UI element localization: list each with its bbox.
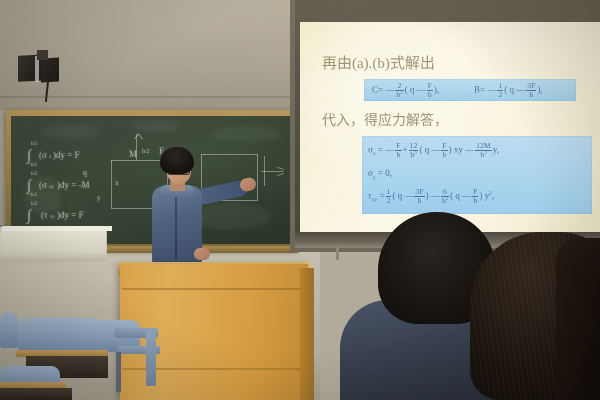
chalk-text: h/2	[31, 202, 37, 207]
chalk-text: -h/2	[29, 193, 37, 198]
wall-cabinet	[0, 227, 107, 263]
speaker-mount-bracket	[37, 50, 48, 60]
slide-formula-block-1: C= —2b2( q —Fb), B= —12( q —3Fb),	[364, 79, 576, 101]
chalk-text: y	[97, 194, 101, 202]
lectern-right-side	[300, 268, 314, 400]
chalk-arrow-shaft	[261, 171, 283, 172]
formula-sigma-x: σx = —Fb+12b3( q —Fb) xy —12Mb3y,	[368, 142, 499, 158]
chalk-text: )dy = -M	[57, 180, 90, 190]
formula-sigma-y: σy = 0,	[368, 168, 392, 181]
chalk-text: )dy = F	[53, 150, 80, 160]
lectern-groove-upper	[122, 288, 306, 290]
slide-formula-block-2: σx = —Fb+12b3( q —Fb) xy —12Mb3y, σy = 0…	[362, 136, 592, 214]
presenter-hair	[160, 147, 194, 174]
presenter-jacket-seam	[175, 190, 177, 260]
seat-shadow-bottom	[0, 388, 72, 400]
chalk-beam-left	[111, 160, 112, 208]
chalk-text: (σ	[39, 150, 47, 160]
formula-1-right: B= —12( q —3Fb),	[474, 82, 543, 98]
presenter-resting-hand	[194, 248, 210, 260]
chalk-arrow-head-a	[277, 167, 284, 171]
formula-1-left: C= —2b2( q —Fb),	[372, 82, 439, 98]
chalk-rect-right	[257, 154, 258, 201]
chalk-text: xy	[49, 185, 54, 190]
classroom-photo: ∫h/2-h/2(σx)dy = F∫h/2-h/2(σxy)dy = -M∫h…	[0, 0, 600, 400]
chalk-arrow-head-b	[277, 173, 284, 177]
chalk-text: -h/2	[29, 163, 37, 168]
student-far-right-head	[556, 238, 600, 400]
wall-cabinet-top-edge	[2, 226, 112, 231]
chalk-text: x	[115, 179, 119, 187]
chalk-text: ∫	[27, 208, 31, 225]
chalk-arrow-up2	[138, 133, 143, 139]
wall-speaker-secondary	[41, 57, 59, 82]
chalk-text: x	[49, 155, 52, 160]
formula-tau-xy: τxy =12( q —3Fb) —6b2( q —Fb) y2,	[368, 188, 494, 204]
chalk-text: )dy = F	[57, 210, 84, 220]
seat-leg-left	[116, 352, 121, 392]
chalk-text: (σ	[39, 180, 47, 190]
chalk-beam-top	[111, 160, 167, 161]
chalk-text: xy	[50, 215, 55, 220]
chalk-text: (τ	[41, 210, 48, 220]
chalk-text: h/2	[31, 172, 37, 177]
projection-screen: 再由(a).(b)式解出 C= —2b2( q —Fb), B= —12( q …	[300, 22, 600, 232]
seat-back-far-left	[0, 312, 18, 348]
chalk-text: q	[83, 168, 87, 177]
seat-vertical-support	[146, 330, 156, 386]
chalk-text: h/2	[31, 142, 37, 147]
slide-heading: 再由(a).(b)式解出	[322, 52, 435, 73]
chalk-text: h/2	[142, 149, 150, 155]
chalk-rect-top	[201, 154, 257, 155]
chalk-vertical-axis	[136, 134, 137, 160]
screen-pull-hook	[336, 246, 339, 260]
slide-mid-text: 代入，得应力解答，	[322, 110, 448, 130]
